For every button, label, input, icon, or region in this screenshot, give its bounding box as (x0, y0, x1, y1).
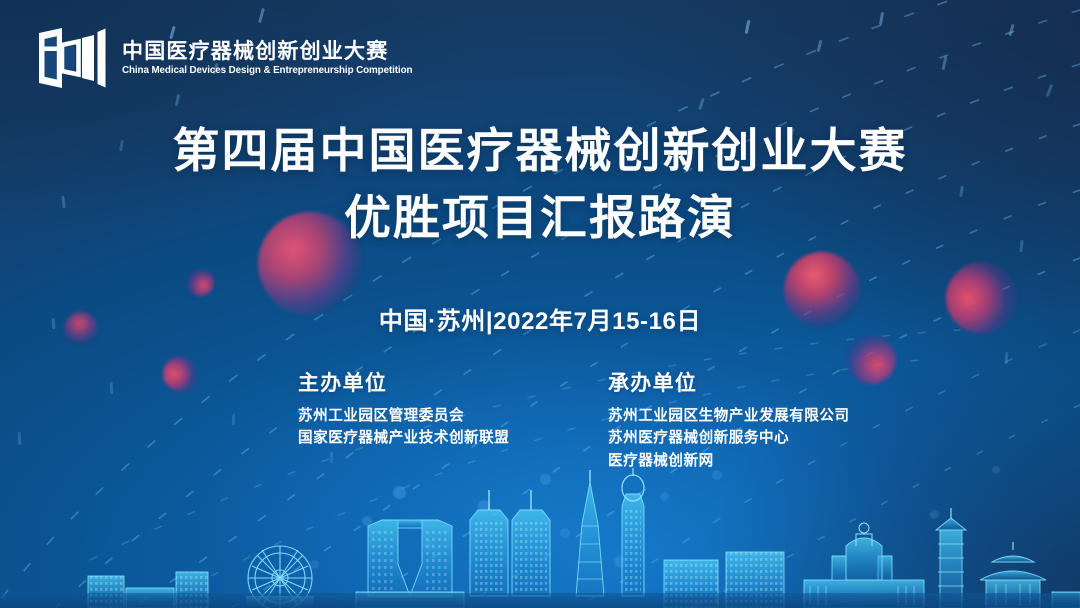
organizer-entry: 苏州医疗器械创新服务中心 (608, 427, 918, 449)
event-title-line-1: 第四届中国医疗器械创新创业大赛 (0, 124, 1080, 179)
organizer-entry: 国家医疗器械产业技术创新联盟 (298, 427, 608, 449)
organizer-entry: 苏州工业园区生物产业发展有限公司 (608, 405, 918, 427)
logo-chinese-name: 中国医疗器械创新创业大赛 (122, 40, 423, 64)
event-banner: 中国医疗器械创新创业大赛 China Medical Devices Desig… (0, 0, 1080, 608)
suzhou-city-skyline-icon (0, 468, 1080, 608)
organizer-entry: 苏州工业园区管理委员会 (298, 405, 608, 427)
organizer-column-host: 主办单位 苏州工业园区管理委员会 国家医疗器械产业技术创新联盟 (298, 371, 608, 472)
organizer-heading: 主办单位 (298, 371, 608, 396)
organizer-column-coorganizer: 承办单位 苏州工业园区生物产业发展有限公司 苏州医疗器械创新服务中心 医疗器械创… (608, 371, 918, 472)
open-door-window-logo-icon (36, 27, 108, 89)
event-title: 第四届中国医疗器械创新创业大赛 优胜项目汇报路演 (0, 124, 1080, 245)
logo-text-block: 中国医疗器械创新创业大赛 China Medical Devices Desig… (122, 40, 423, 77)
event-date-location: 中国·苏州|2022年7月15-16日 (0, 301, 1080, 336)
logo-english-name: China Medical Devices Design & Entrepren… (122, 65, 412, 76)
skyline-ground-line (0, 593, 1080, 608)
competition-logo: 中国医疗器械创新创业大赛 China Medical Devices Desig… (36, 27, 423, 89)
organizer-heading: 承办单位 (608, 371, 918, 396)
event-title-line-2: 优胜项目汇报路演 (0, 191, 1080, 246)
organizers-section: 主办单位 苏州工业园区管理委员会 国家医疗器械产业技术创新联盟 承办单位 苏州工… (298, 371, 918, 472)
